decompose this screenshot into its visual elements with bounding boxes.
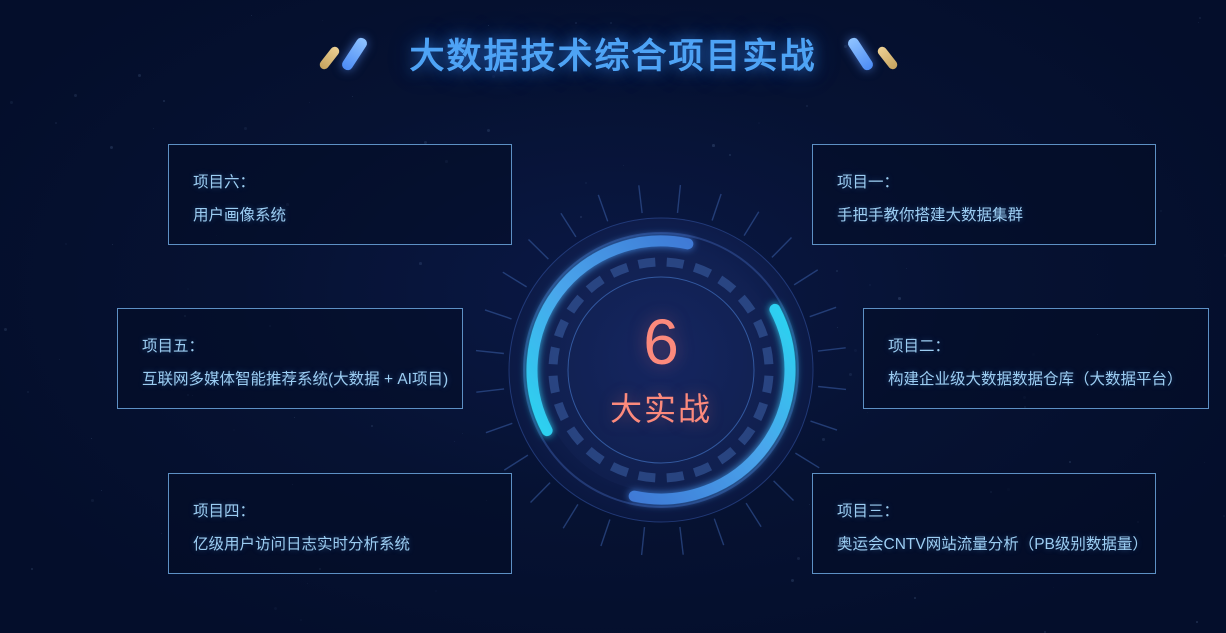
project-card-4[interactable]: 项目四： 亿级用户访问日志实时分析系统: [168, 473, 512, 574]
project-card-5[interactable]: 项目五： 互联网多媒体智能推荐系统(大数据 + AI项目): [117, 308, 463, 409]
page-title: 大数据技术综合项目实战: [409, 28, 816, 79]
project-card-6-label: 项目六：: [193, 171, 489, 195]
center-dial: 6 大实战: [471, 180, 851, 560]
project-card-1[interactable]: 项目一： 手把手教你搭建大数据集群: [812, 144, 1156, 245]
project-card-3-label: 项目三：: [837, 500, 1133, 524]
slide-root: 大数据技术综合项目实战: [0, 0, 1226, 633]
project-card-5-label: 项目五：: [142, 335, 440, 359]
project-card-2[interactable]: 项目二： 构建企业级大数据数据仓库（大数据平台）: [863, 308, 1209, 409]
project-card-2-label: 项目二：: [888, 335, 1186, 359]
project-card-5-desc: 互联网多媒体智能推荐系统(大数据 + AI项目): [142, 368, 440, 392]
project-card-1-desc: 手把手教你搭建大数据集群: [837, 204, 1133, 228]
project-card-4-label: 项目四：: [193, 500, 489, 524]
right-slash-decoration-icon: [847, 34, 903, 74]
project-card-3[interactable]: 项目三： 奥运会CNTV网站流量分析（PB级别数据量）: [812, 473, 1156, 574]
project-card-2-desc: 构建企业级大数据数据仓库（大数据平台）: [888, 368, 1186, 392]
project-card-3-desc: 奥运会CNTV网站流量分析（PB级别数据量）: [837, 533, 1133, 557]
project-card-1-label: 项目一：: [837, 171, 1133, 195]
project-card-6-desc: 用户画像系统: [193, 204, 489, 228]
project-card-6[interactable]: 项目六： 用户画像系统: [168, 144, 512, 245]
left-slash-decoration-icon: [323, 34, 379, 74]
page-title-row: 大数据技术综合项目实战: [0, 28, 1226, 79]
project-card-4-desc: 亿级用户访问日志实时分析系统: [193, 533, 489, 557]
